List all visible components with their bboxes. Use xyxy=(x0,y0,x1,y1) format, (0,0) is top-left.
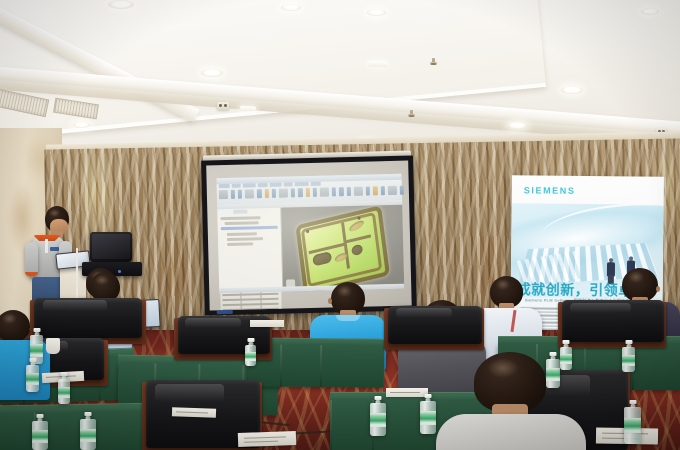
tree-row xyxy=(220,216,260,220)
water-bottle[interactable] xyxy=(370,396,386,436)
water-bottle[interactable] xyxy=(58,372,70,404)
strip-light-icon xyxy=(240,106,256,112)
sprinkler-head-icon xyxy=(430,58,437,66)
smoke-detector-icon xyxy=(217,102,229,110)
downlight-icon xyxy=(561,86,583,94)
mold-cavity-part-model xyxy=(295,207,381,287)
tree-row xyxy=(225,221,259,225)
water-bottle[interactable] xyxy=(560,340,572,370)
property-row xyxy=(222,293,278,296)
shirt-collar xyxy=(336,315,360,321)
water-bottle[interactable] xyxy=(624,400,641,444)
tree-row xyxy=(227,237,263,241)
water-bottle[interactable] xyxy=(420,394,436,434)
projected-application-window xyxy=(217,174,405,293)
sprinkler-head-icon xyxy=(408,110,415,118)
property-row xyxy=(223,303,279,306)
downlight-icon xyxy=(508,122,527,129)
water-bottle[interactable] xyxy=(26,358,39,392)
attendee-head xyxy=(0,310,30,342)
screen-brand-tag xyxy=(217,310,233,314)
water-bottle[interactable] xyxy=(245,338,256,366)
presenter-name-badge xyxy=(50,247,59,251)
chair[interactable] xyxy=(388,306,482,344)
notepad xyxy=(238,431,296,447)
water-bottle[interactable] xyxy=(32,414,48,450)
conference-room-photo: SIEMENS 成就创新，引领卓越 Siemens PLM Software 智… xyxy=(0,0,680,450)
presenter-left-arm xyxy=(25,242,38,276)
tree-row-selected xyxy=(221,226,278,230)
water-bottle[interactable] xyxy=(546,352,560,388)
property-row xyxy=(222,298,278,301)
chair[interactable] xyxy=(562,300,664,342)
attendee-ear xyxy=(656,286,660,292)
water-bottle[interactable] xyxy=(622,340,635,372)
stage-monitor[interactable] xyxy=(90,232,132,262)
strip-light-icon xyxy=(368,61,387,68)
attendee-shirt xyxy=(436,414,586,450)
tree-panel-tabs xyxy=(218,209,247,214)
tree-row xyxy=(227,242,253,246)
downlight-icon xyxy=(201,69,223,77)
downlight-icon xyxy=(281,4,301,11)
siemens-logo: SIEMENS xyxy=(524,185,576,196)
paper-cup[interactable] xyxy=(46,338,60,354)
notepad xyxy=(172,407,216,418)
attendee-head xyxy=(474,352,546,412)
tree-row xyxy=(227,232,257,236)
water-bottle[interactable] xyxy=(80,412,96,450)
downlight-icon xyxy=(108,0,134,9)
downlight-icon xyxy=(73,122,90,128)
feature-tree-panel xyxy=(217,208,283,294)
cad-3d-viewport xyxy=(281,205,404,292)
notepad xyxy=(250,320,284,327)
downlight-icon xyxy=(367,9,386,16)
downlight-icon xyxy=(641,8,659,15)
attendee-ear xyxy=(328,298,332,304)
